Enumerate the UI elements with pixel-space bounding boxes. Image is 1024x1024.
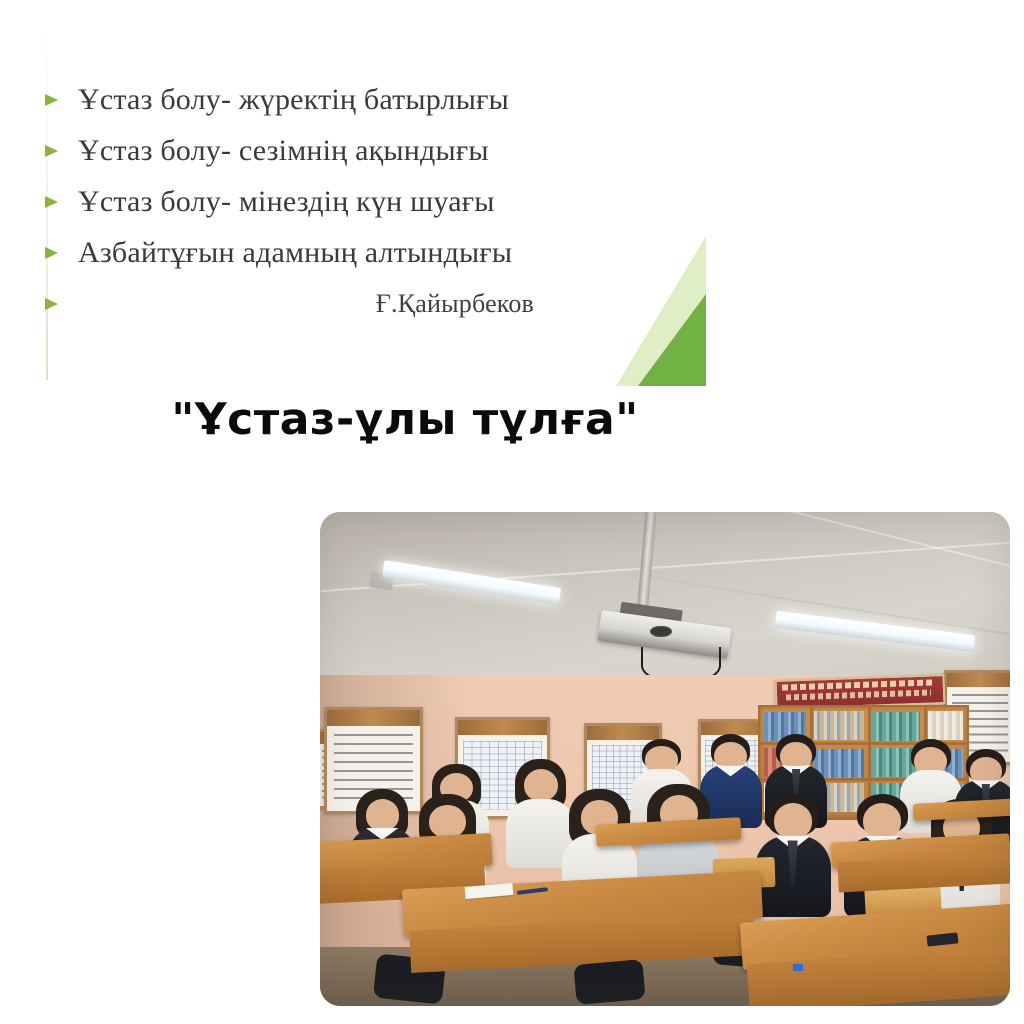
books-row [872,712,920,741]
bullet-row: Ұстаз болу- мінездің күн шуағы [0,176,660,227]
author-attribution: Ғ.Қайырбеков [0,290,600,317]
poster-header [587,726,659,739]
bullet-row: Ұстаз болу- жүректің батырлығы [0,74,660,125]
poster-header [458,720,548,735]
backpack [574,959,646,1004]
student-head [774,803,812,839]
books-row [928,711,963,740]
page-title: "Ұстаз-ұлы тұлға" [0,394,810,445]
triangle-bullet-icon [45,94,58,106]
student-head [429,805,465,838]
bullet-row: Ұстаз болу- сезімнің ақындығы [0,125,660,176]
bullet-text: Ұстаз болу- жүректің батырлығы [78,84,509,116]
bullet-row-author: Ғ.Қайырбеков [0,278,660,329]
necktie [784,840,801,886]
bullet-row: Азбайтұғын адамның алтындығы [0,227,660,278]
triangle-bullet-icon [45,247,58,259]
poster-header [947,673,1010,687]
student-head [366,799,399,831]
desk-sticker [793,964,803,971]
quote-slide: Ұстаз болу- жүректің батырлығы Ұстаз бол… [0,18,706,386]
triangle-bullet-icon [45,298,58,310]
student-head [524,769,559,802]
bullet-text: Азбайтұғын адамның алтындығы [78,237,512,269]
shirt-collar [716,765,746,779]
student [755,794,831,918]
classroom-photo [320,512,1010,1006]
student-head [863,803,901,839]
slide-bullet-list: Ұстаз болу- жүректің батырлығы Ұстаз бол… [0,74,660,329]
poster-header [327,710,419,726]
triangle-bullet-icon [45,196,58,208]
bullet-text: Ұстаз болу- сезімнің ақындығы [78,135,489,167]
bullet-text: Ұстаз болу- мінездің күн шуағы [78,186,495,218]
triangle-bullet-icon [45,145,58,157]
